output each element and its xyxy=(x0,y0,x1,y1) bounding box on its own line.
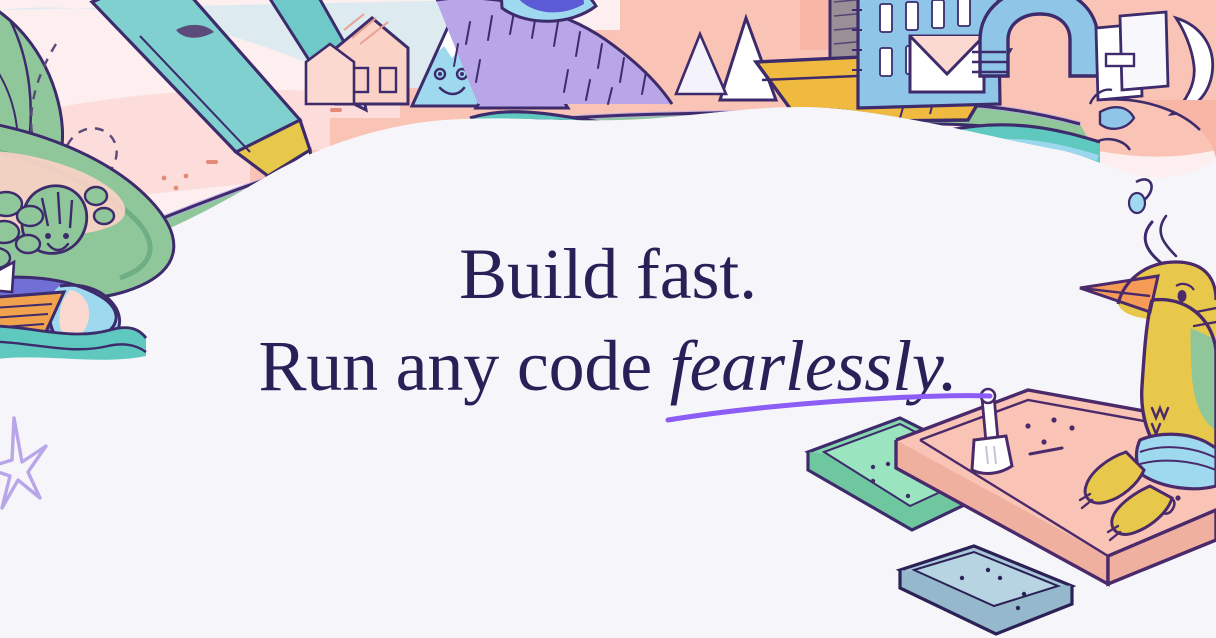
headline-line-2: Run any code fearlessly. xyxy=(0,320,1216,412)
envelope xyxy=(910,36,984,92)
dashed-trail xyxy=(31,44,116,196)
purple-mountains xyxy=(436,0,672,108)
headline-line-2-plain: Run any code xyxy=(258,326,669,406)
sparkle-star xyxy=(0,418,46,508)
hero-banner: Build fast. Run any code fearlessly. xyxy=(0,0,1216,638)
horseshoe-magnet xyxy=(972,0,1098,76)
blue-tray xyxy=(900,546,1072,634)
headline-block: Build fast. Run any code fearlessly. xyxy=(0,228,1216,412)
pink-house-left xyxy=(336,14,408,104)
pink-sandbox-tray xyxy=(896,390,1216,584)
sailboat xyxy=(756,0,1010,122)
water-droplets xyxy=(1090,90,1152,213)
foliage-left xyxy=(0,0,63,240)
teal-waves xyxy=(470,112,1100,190)
headline-line-1: Build fast. xyxy=(0,228,1216,320)
teal-pencil-small xyxy=(258,0,366,110)
smiling-mountain xyxy=(412,18,492,106)
blue-apartment-building xyxy=(852,0,1000,108)
headline-emphasis-fearlessly: fearlessly. xyxy=(670,326,958,406)
white-sails xyxy=(676,18,776,100)
paper-documents xyxy=(1096,12,1213,114)
green-tray xyxy=(808,418,1004,530)
teal-pencil-large xyxy=(92,0,316,196)
pink-house-small xyxy=(306,44,354,104)
